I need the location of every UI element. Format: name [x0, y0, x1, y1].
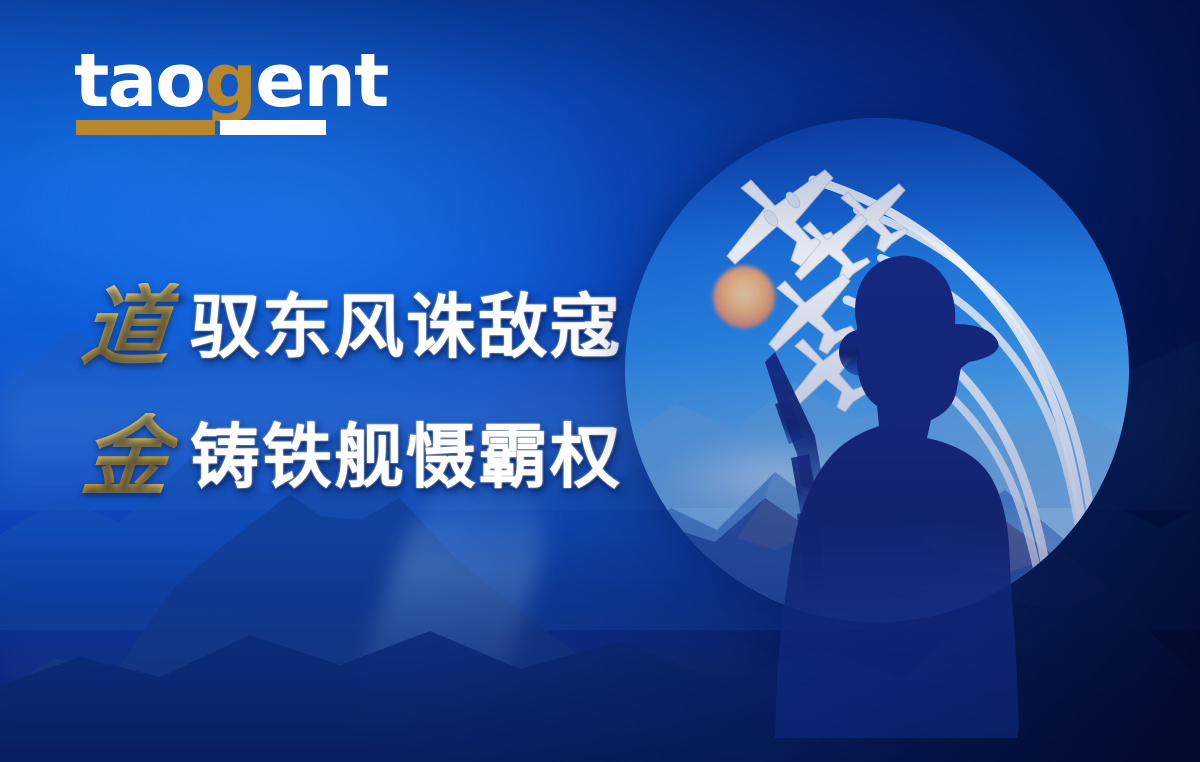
headline-line-1: 道 驭东风诛敌寇: [82, 262, 602, 392]
headline-seal-char-1: 道: [78, 283, 180, 371]
headline-line-2: 金 铸铁舰慑霸权: [82, 392, 602, 522]
logo-wordmark: taogent: [74, 44, 387, 118]
banner-canvas: taogent 道 驭东风诛敌寇 金 铸铁舰慑霸权: [0, 0, 1200, 762]
logo-underline: [76, 120, 324, 135]
logo-text-accent: g: [204, 38, 255, 124]
logo-text-before: tao: [74, 38, 204, 124]
logo-text-after: ent: [255, 38, 387, 124]
headline-seal-char-2: 金: [78, 413, 180, 501]
logo[interactable]: taogent: [74, 44, 374, 144]
headline-text-2: 铸铁舰慑霸权: [190, 422, 622, 492]
headline-text-1: 驭东风诛敌寇: [190, 292, 622, 362]
medallion-color-overlay: [625, 118, 1129, 622]
circular-photo-medallion: [625, 118, 1129, 622]
headline-block: 道 驭东风诛敌寇 金 铸铁舰慑霸权: [82, 262, 602, 522]
logo-underline-gold-segment: [76, 120, 215, 135]
logo-underline-white-segment: [220, 120, 326, 135]
